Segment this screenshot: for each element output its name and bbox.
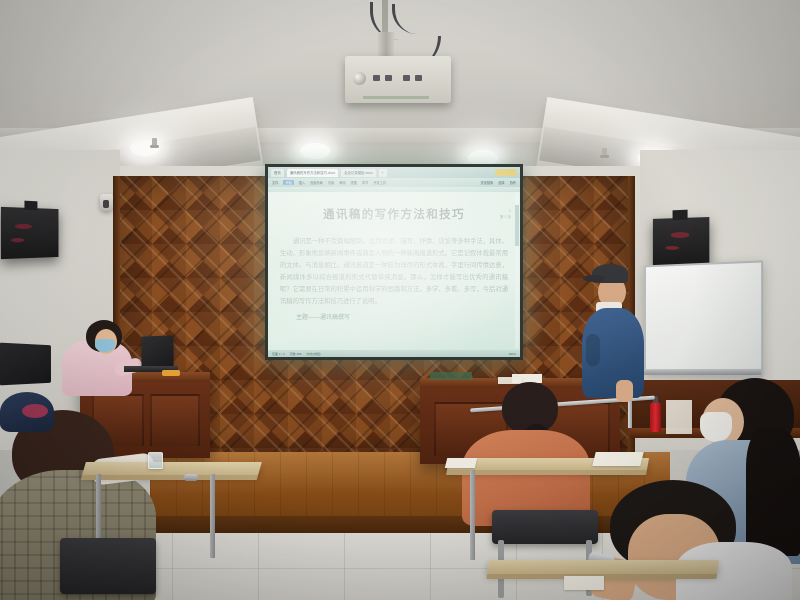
- slide-subtitle: 主题——通讯稿撰写: [296, 312, 520, 321]
- control-monitor: [0, 343, 51, 386]
- sprinkler-head-icon: [152, 138, 157, 146]
- ribbon-item-insert[interactable]: 插入: [299, 180, 305, 185]
- notebook: [592, 452, 643, 466]
- paper-sheet: [564, 576, 604, 590]
- projector-port: [415, 75, 422, 81]
- status-zoom-level[interactable]: 100%: [508, 352, 516, 356]
- ribbon-item-view[interactable]: 视图: [351, 180, 357, 185]
- projector-port: [373, 75, 380, 81]
- ceiling-downlight: [300, 143, 330, 159]
- projector-label: [363, 96, 429, 99]
- projected-document-window: 首页 通讯稿的写作方法和技巧.docx 会议记录模板.docx + 文件 开始 …: [268, 167, 520, 357]
- laptop[interactable]: [142, 335, 174, 368]
- wall-notice: [666, 400, 692, 434]
- ribbon-item-review[interactable]: 审阅: [339, 180, 345, 185]
- presenter-arm: [586, 334, 600, 366]
- page-number: 1: [509, 209, 511, 213]
- ribbon-item-start[interactable]: 开始: [283, 180, 293, 185]
- slide-title: 通讯稿的写作方法和技巧: [268, 206, 520, 222]
- ribbon-item-pagelayout[interactable]: 页面布局: [310, 180, 323, 185]
- ribbon-item-select[interactable]: 选择: [498, 180, 504, 185]
- person-attendee-man: [580, 480, 790, 600]
- presenter-cap: [592, 264, 628, 283]
- desk-front-left: [82, 462, 262, 475]
- ribbon-item-devtools[interactable]: 开发工具: [373, 180, 386, 185]
- security-camera-icon: [100, 194, 113, 211]
- conference-room-scene: 首页 通讯稿的写作方法和技巧.docx 会议记录模板.docx + 文件 开始 …: [0, 0, 800, 600]
- whiteboard[interactable]: [644, 260, 763, 377]
- ribbon-item-reference[interactable]: 引用: [328, 180, 334, 185]
- projection-screen: 首页 通讯稿的写作方法和技巧.docx 会议记录模板.docx + 文件 开始 …: [265, 164, 523, 360]
- partial-person-detail: [22, 404, 48, 418]
- desk-item-orange: [162, 370, 180, 376]
- account-login-button[interactable]: [495, 169, 517, 176]
- status-page-count: 页面 1 / 2: [272, 352, 285, 356]
- desk-leg: [210, 474, 215, 558]
- document-scrollbar[interactable]: [515, 193, 519, 348]
- slide-body-text: 通讯是一种不受篇幅限制，运用叙述、描写、抒情、议论等多种手法，具体、生动、形象地…: [280, 236, 508, 308]
- document-ribbon: 文件 开始 插入 页面布局 引用 审阅 视图 章节 开发工具 查找替换 选择 协…: [268, 178, 520, 187]
- desk-leg: [470, 470, 475, 560]
- document-statusbar: 页面 1 / 2 字数 486 中文(中国) 100%: [268, 350, 520, 357]
- fire-extinguisher: [650, 402, 661, 432]
- sprinkler-head-icon: [602, 148, 607, 156]
- person-recorder: [62, 318, 146, 392]
- chair-front-left: [60, 538, 156, 594]
- titlebar-tab-active[interactable]: 通讯稿的写作方法和技巧.docx: [287, 169, 338, 177]
- paper-sheet: [445, 458, 477, 468]
- titlebar-tab-second[interactable]: 会议记录模板.docx: [341, 169, 375, 177]
- titlebar-new-tab-button[interactable]: +: [379, 169, 387, 177]
- whiteboard-marker-tray: [644, 369, 761, 375]
- recorder-face-mask: [95, 339, 115, 352]
- person-attendee-orange: [462, 382, 594, 524]
- page-number-sub: 第 1 页: [500, 215, 511, 219]
- podium-mat: [430, 372, 472, 380]
- water-glass[interactable]: [148, 452, 163, 469]
- wall-speaker-right: [653, 217, 709, 267]
- ribbon-item-section[interactable]: 章节: [362, 180, 368, 185]
- status-word-count: 字数 486: [290, 352, 302, 356]
- projector-lens-icon: [353, 72, 366, 85]
- ribbon-item-file[interactable]: 文件: [272, 180, 278, 185]
- desk-small-object: [184, 474, 198, 481]
- ribbon-item-find[interactable]: 查找替换: [481, 180, 494, 185]
- projector-port: [385, 75, 392, 81]
- desk-front-right: [487, 560, 719, 574]
- titlebar-tab-home[interactable]: 首页: [271, 169, 284, 177]
- ceiling-projector: [345, 56, 451, 103]
- presenter-hand: [616, 380, 633, 402]
- status-language: 中文(中国): [307, 352, 321, 356]
- masked-attendee-face-mask: [700, 412, 732, 442]
- document-page: 1 第 1 页 通讯稿的写作方法和技巧 通讯是一种不受篇幅限制，运用叙述、描写、…: [268, 192, 520, 357]
- projector-port: [403, 75, 410, 81]
- document-titlebar: 首页 通讯稿的写作方法和技巧.docx 会议记录模板.docx +: [268, 167, 520, 178]
- ribbon-item-collab[interactable]: 协作: [510, 180, 516, 185]
- wall-speaker-left: [1, 207, 59, 259]
